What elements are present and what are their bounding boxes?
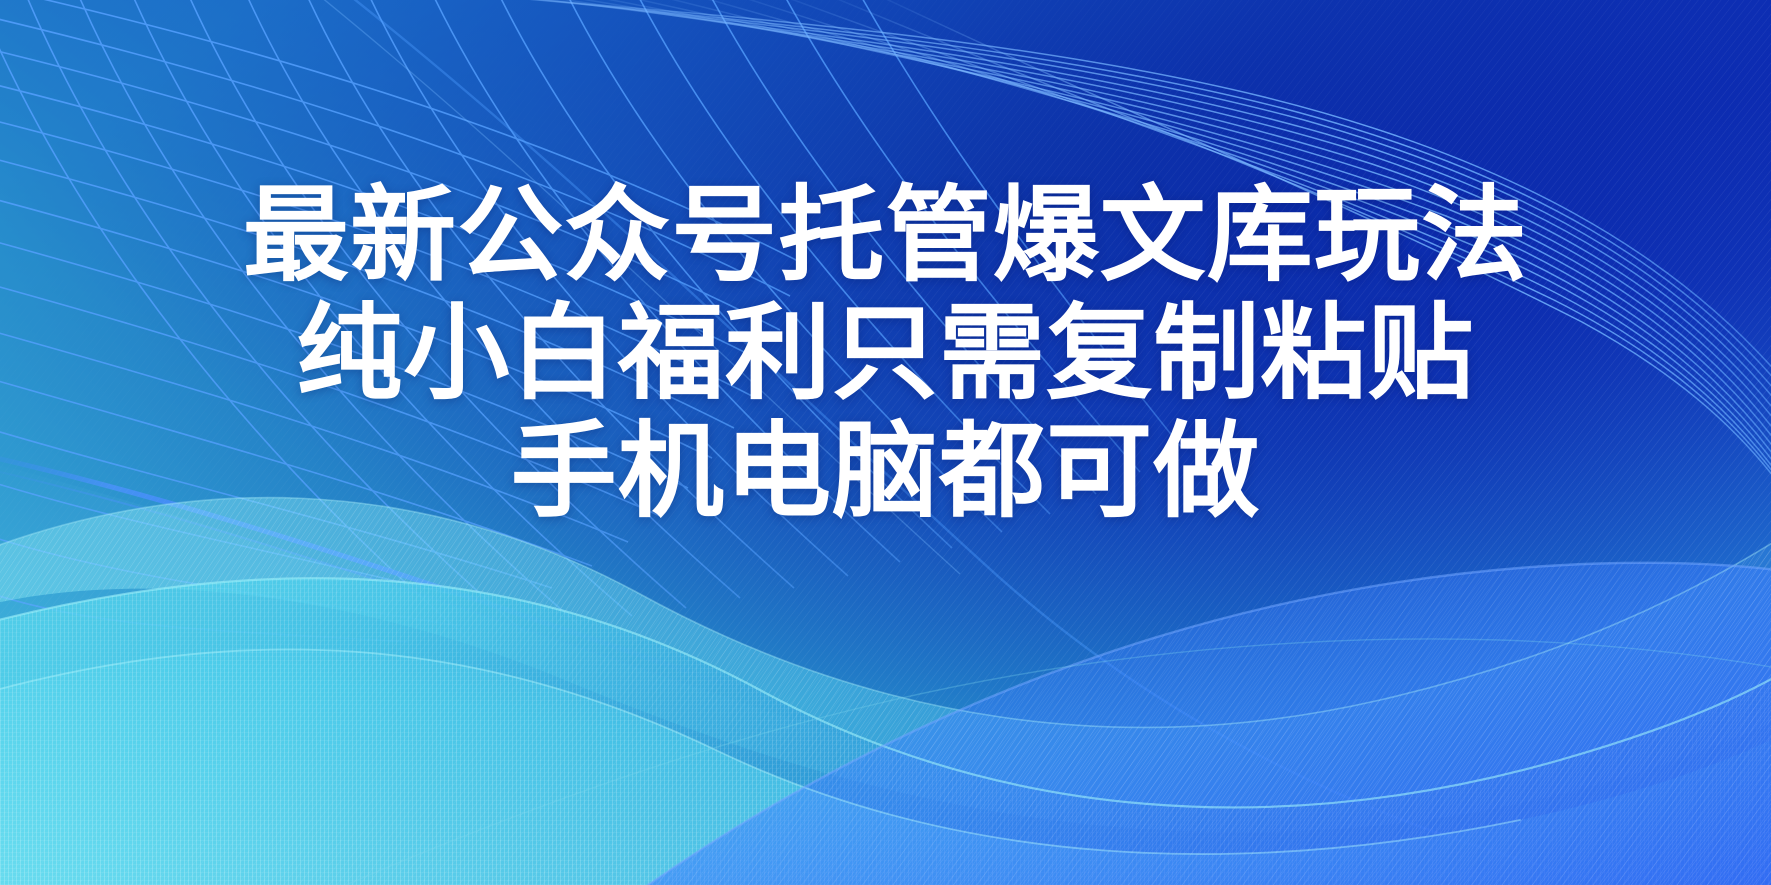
- poster-canvas: 最新公众号托管爆文库玩法 纯小白福利只需复制粘贴 手机电脑都可做: [0, 0, 1771, 885]
- headline-line-1: 最新公众号托管爆文库玩法: [0, 176, 1771, 294]
- headline-line-2: 纯小白福利只需复制粘贴: [0, 294, 1771, 412]
- headline-line-3: 手机电脑都可做: [0, 412, 1771, 530]
- headline-block: 最新公众号托管爆文库玩法 纯小白福利只需复制粘贴 手机电脑都可做: [0, 176, 1771, 530]
